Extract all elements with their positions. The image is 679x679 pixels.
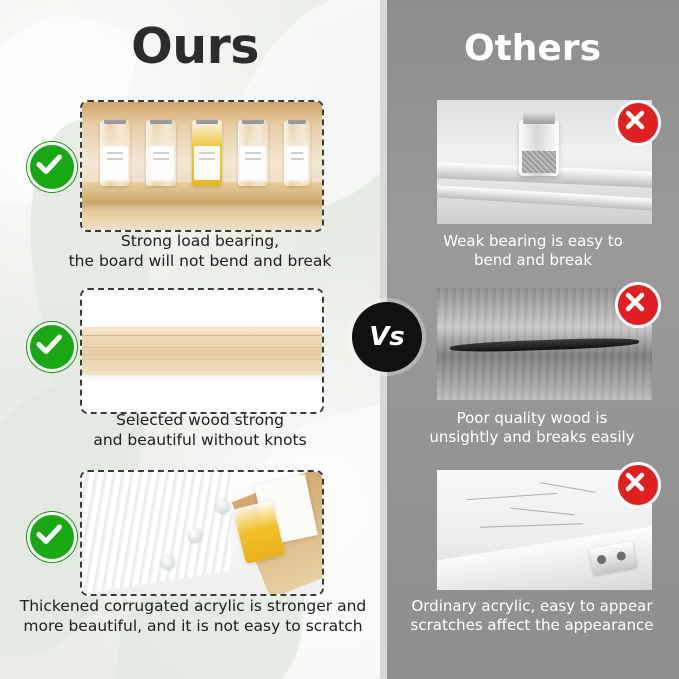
ours-image-3 <box>80 470 324 596</box>
red-x-icon-2 <box>615 282 661 328</box>
ours-image-2 <box>80 288 324 414</box>
ours-caption-3-line1: Thickened corrugated acrylic is stronger… <box>12 597 374 617</box>
page-title-ours: Ours <box>30 18 360 75</box>
ours-caption-1-line2: the board will not bend and break <box>26 252 374 272</box>
others-caption-3-line1: Ordinary acrylic, easy to appear <box>391 597 673 616</box>
others-caption-1-line2: bend and break <box>398 251 668 270</box>
others-caption-2-line2: unsightly and breaks easily <box>393 428 671 447</box>
ours-image-1 <box>80 100 324 232</box>
red-x-icon-3 <box>615 462 661 508</box>
page-title-others: Others <box>395 28 670 69</box>
others-caption-3-line2: scratches affect the appearance <box>391 616 673 635</box>
others-caption-1-line1: Weak bearing is easy to <box>398 232 668 251</box>
ours-caption-1: Strong load bearing, the board will not … <box>26 232 374 272</box>
others-caption-2-line1: Poor quality wood is <box>393 409 671 428</box>
others-caption-3: Ordinary acrylic, easy to appear scratch… <box>391 597 673 635</box>
ours-caption-1-line1: Strong load bearing, <box>26 232 374 252</box>
others-caption-2: Poor quality wood is unsightly and break… <box>393 409 671 447</box>
red-x-icon-1 <box>615 100 661 146</box>
ours-caption-3: Thickened corrugated acrylic is stronger… <box>12 597 374 637</box>
ours-caption-2: Selected wood strong and beautiful witho… <box>26 411 374 451</box>
ours-caption-3-line2: more beautiful, and it is not easy to sc… <box>12 617 374 637</box>
ours-caption-2-line2: and beautiful without knots <box>26 431 374 451</box>
ours-caption-2-line1: Selected wood strong <box>26 411 374 431</box>
green-check-icon-2 <box>27 322 77 372</box>
comparison-infographic: Ours Others Vs Strong load bearing, the … <box>0 0 679 679</box>
green-check-icon-1 <box>27 142 77 192</box>
green-check-icon-3 <box>27 512 77 562</box>
vs-badge: Vs <box>352 302 422 372</box>
others-caption-1: Weak bearing is easy to bend and break <box>398 232 668 270</box>
